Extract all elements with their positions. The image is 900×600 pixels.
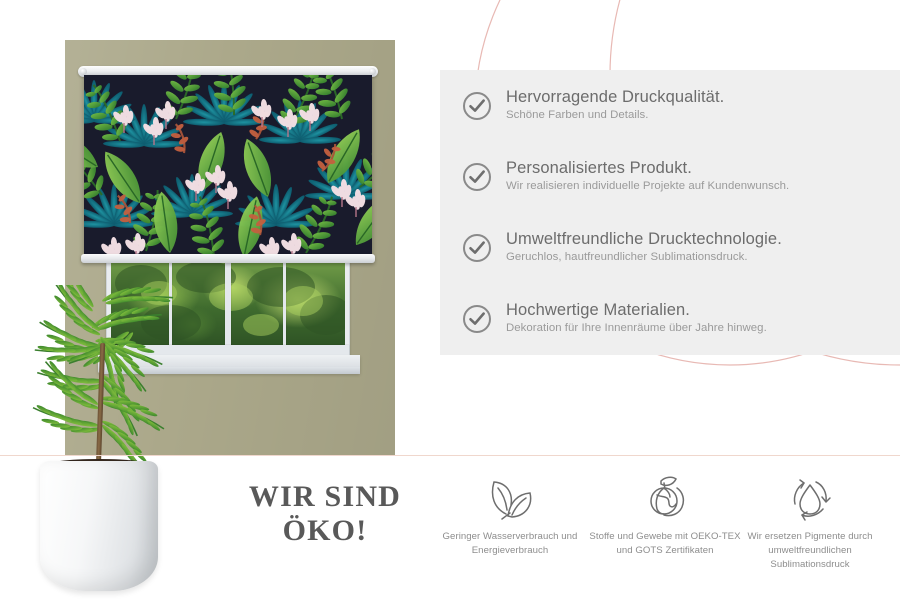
window-mullion-vertical-center [225, 261, 231, 347]
globe-leaf-icon [585, 468, 745, 526]
eco-section: WIR SIND ÖKO! Geringer Was [0, 462, 900, 600]
check-circle-icon [462, 304, 492, 334]
feature-item: Personalisiertes Produkt. Wir realisiere… [462, 159, 900, 217]
feature-subtitle: Schöne Farben und Details. [506, 108, 900, 122]
eco-column: Geringer Wasserverbrauch und Energieverb… [430, 468, 590, 558]
feature-item: Hochwertige Materialien. Dekoration für … [462, 301, 900, 359]
features-panel: Hervorragende Druckqualität. Schöne Farb… [440, 70, 900, 355]
eco-columns: Geringer Wasserverbrauch und Energieverb… [430, 468, 900, 600]
roller-blind [84, 66, 372, 266]
eco-caption: Wir ersetzen Pigmente durch umweltfreund… [730, 530, 890, 572]
product-banner: Hervorragende Druckqualität. Schöne Farb… [0, 0, 900, 600]
feature-title: Hervorragende Druckqualität. [506, 88, 900, 106]
eco-column: Stoffe und Gewebe mit OEKO-TEX und GOTS … [585, 468, 745, 558]
section-divider [0, 455, 900, 456]
water-drop-recycle-icon [730, 468, 890, 526]
feature-subtitle: Wir realisieren individuelle Projekte au… [506, 179, 900, 193]
eco-caption: Stoffe und Gewebe mit OEKO-TEX und GOTS … [585, 530, 745, 558]
feature-subtitle: Geruchlos, hautfreundlicher Sublimations… [506, 250, 900, 264]
feature-title: Hochwertige Materialien. [506, 301, 900, 319]
feature-item: Umweltfreundliche Drucktechnologie. Geru… [462, 230, 900, 288]
features-list: Hervorragende Druckqualität. Schöne Farb… [462, 88, 900, 372]
window-mullion-vertical-right [283, 263, 286, 345]
blind-bottom-bar [81, 254, 375, 263]
blind-end-cap-right [369, 68, 376, 75]
eco-column: Wir ersetzen Pigmente durch umweltfreund… [730, 468, 890, 572]
feature-title: Personalisiertes Produkt. [506, 159, 900, 177]
blind-end-cap-left [80, 68, 87, 75]
check-circle-icon [462, 162, 492, 192]
check-circle-icon [462, 233, 492, 263]
feature-item: Hervorragende Druckqualität. Schöne Farb… [462, 88, 900, 146]
eco-heading-line1: WIR SIND [200, 480, 450, 514]
eco-heading: WIR SIND ÖKO! [200, 480, 450, 547]
check-circle-icon [462, 91, 492, 121]
tropical-pattern-icon [84, 75, 372, 257]
eco-heading-line2: ÖKO! [200, 514, 450, 548]
two-leaves-icon [430, 468, 590, 526]
feature-subtitle: Dekoration für Ihre Innenräume über Jahr… [506, 321, 900, 335]
feature-title: Umweltfreundliche Drucktechnologie. [506, 230, 900, 248]
blind-fabric-tropical-print [84, 75, 372, 257]
eco-caption: Geringer Wasserverbrauch und Energieverb… [430, 530, 590, 558]
